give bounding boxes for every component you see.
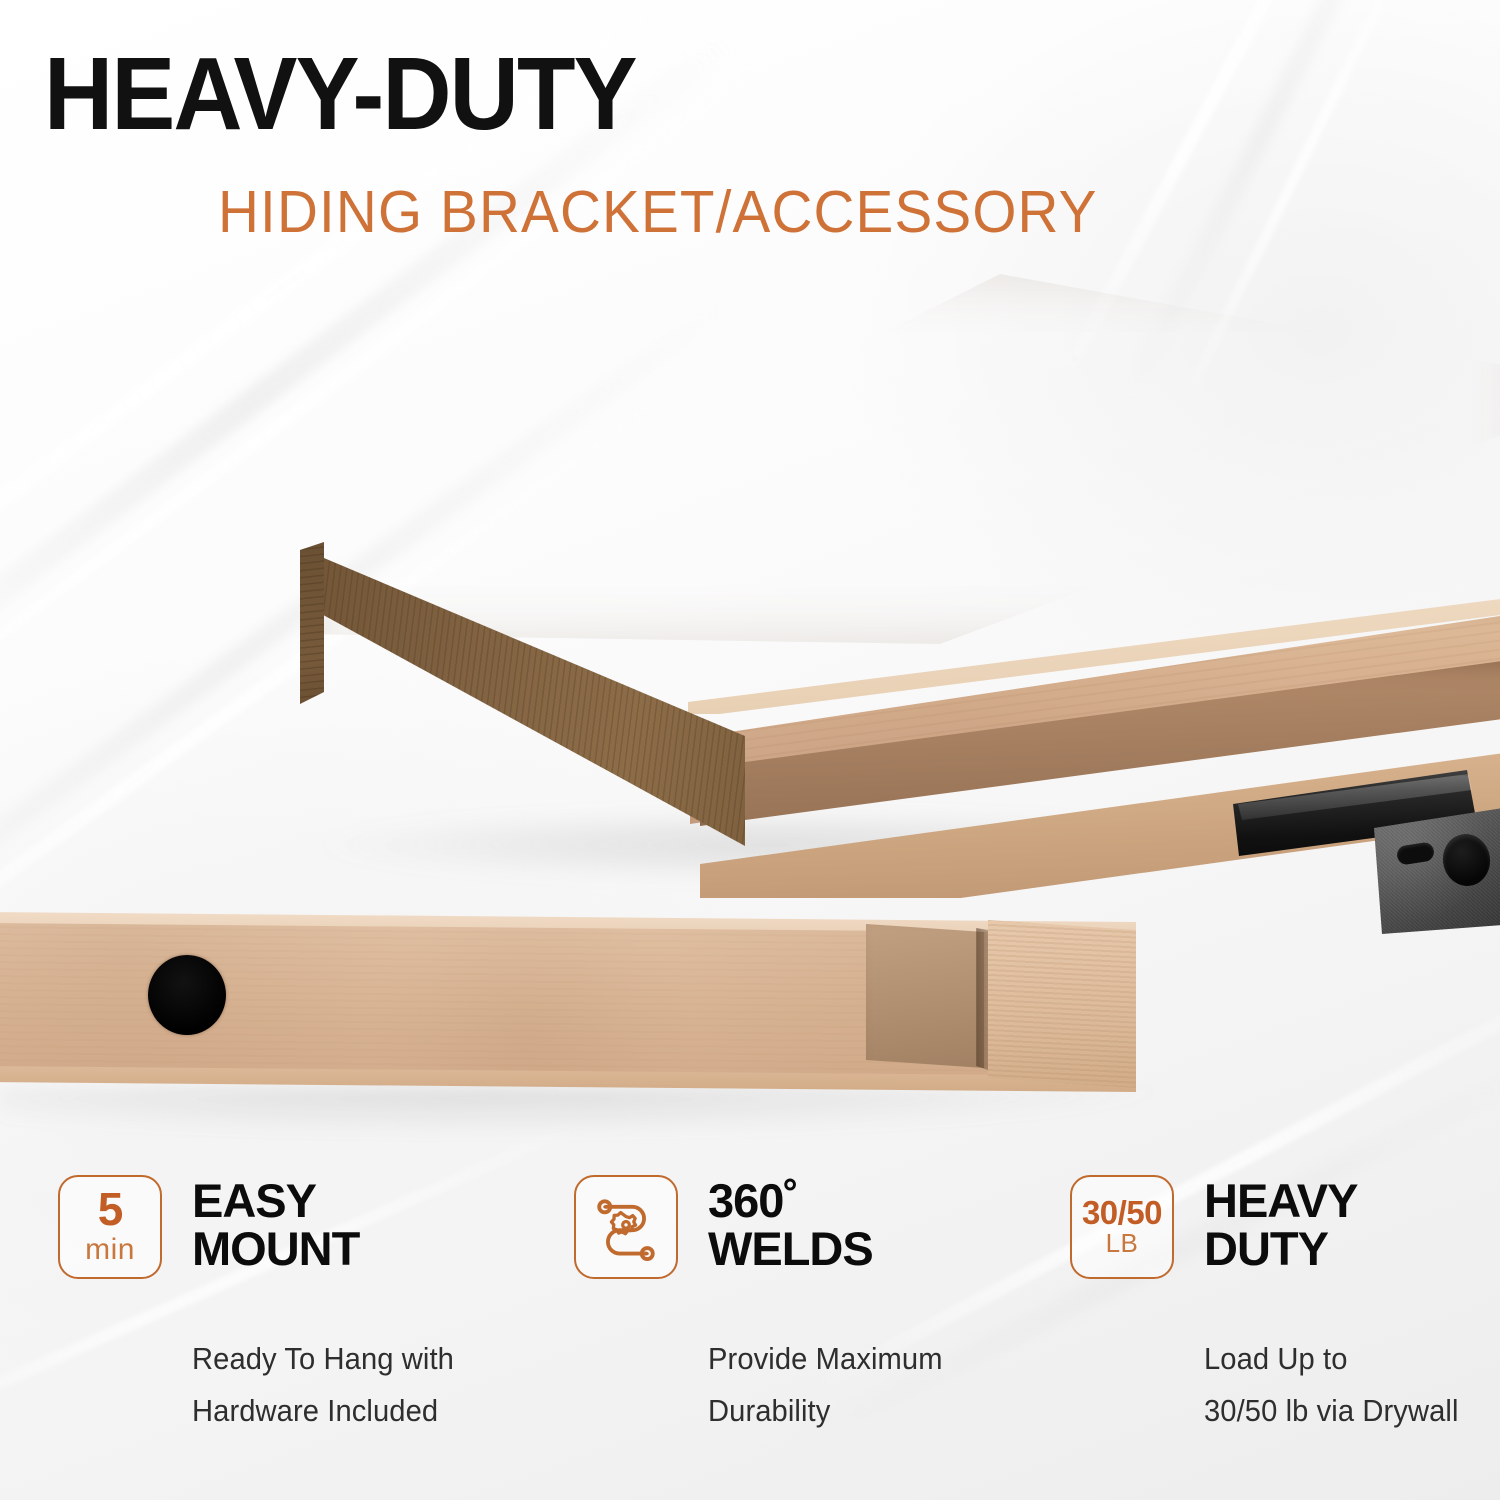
badge-number: 5 [98,1188,123,1232]
floating-shelf [0,250,1500,890]
feature-title-line1: 360˚ [708,1177,873,1225]
badge-unit: LB [1106,1230,1139,1257]
feature-head: 30/50 LB HEAVY DUTY [1070,1175,1490,1279]
cross-section-mounting-hole [148,955,226,1035]
feature-desc-line1: Provide Maximum [708,1333,1024,1385]
cross-section-right-end-block [988,912,1148,1096]
badge-number: 30/50 [1082,1197,1162,1228]
feature-title-line2: MOUNT [192,1225,359,1273]
shelf-top-surface [300,274,1500,644]
weld-path-svg [592,1193,660,1261]
feature-heavy-duty: 30/50 LB HEAVY DUTY Load Up to 30/50 lb … [1070,1175,1490,1475]
feature-description: Provide Maximum Durability [708,1333,1024,1437]
feature-desc-line2: Durability [708,1385,1024,1437]
feature-description: Ready To Hang with Hardware Included [192,1333,508,1437]
feature-desc-line1: Ready To Hang with [192,1333,508,1385]
feature-360-welds: 360˚ WELDS Provide Maximum Durability [574,1175,1044,1475]
load-capacity-badge-icon: 30/50 LB [1070,1175,1174,1279]
page-title: HEAVY-DUTY [44,42,636,145]
feature-description: Load Up to 30/50 lb via Drywall [1204,1333,1473,1437]
hero-product-image [0,250,1500,890]
feature-title-line2: DUTY [1204,1225,1357,1273]
feature-desc-line2: Hardware Included [192,1385,508,1437]
feature-title-line1: EASY [192,1177,359,1225]
weld-path-gear-icon [574,1175,678,1279]
page-subtitle: HIDING BRACKET/ACCESSORY [218,183,1098,242]
feature-head: 5 min EASY MOUNT [58,1175,528,1279]
feature-title-line1: HEAVY [1204,1177,1357,1225]
feature-easy-mount: 5 min EASY MOUNT Ready To Hang with Hard… [58,1175,528,1475]
features-row: 5 min EASY MOUNT Ready To Hang with Hard… [0,1175,1500,1475]
feature-title: 360˚ WELDS [708,1175,873,1274]
feature-head: 360˚ WELDS [574,1175,1044,1279]
feature-desc-line1: Load Up to [1204,1333,1473,1385]
feature-desc-line2: 30/50 lb via Drywall [1204,1385,1473,1437]
badge-unit: min [85,1234,135,1266]
feature-title-line2: WELDS [708,1225,873,1273]
feature-title: HEAVY DUTY [1204,1175,1357,1274]
feature-title: EASY MOUNT [192,1175,359,1274]
minutes-badge-icon: 5 min [58,1175,162,1279]
